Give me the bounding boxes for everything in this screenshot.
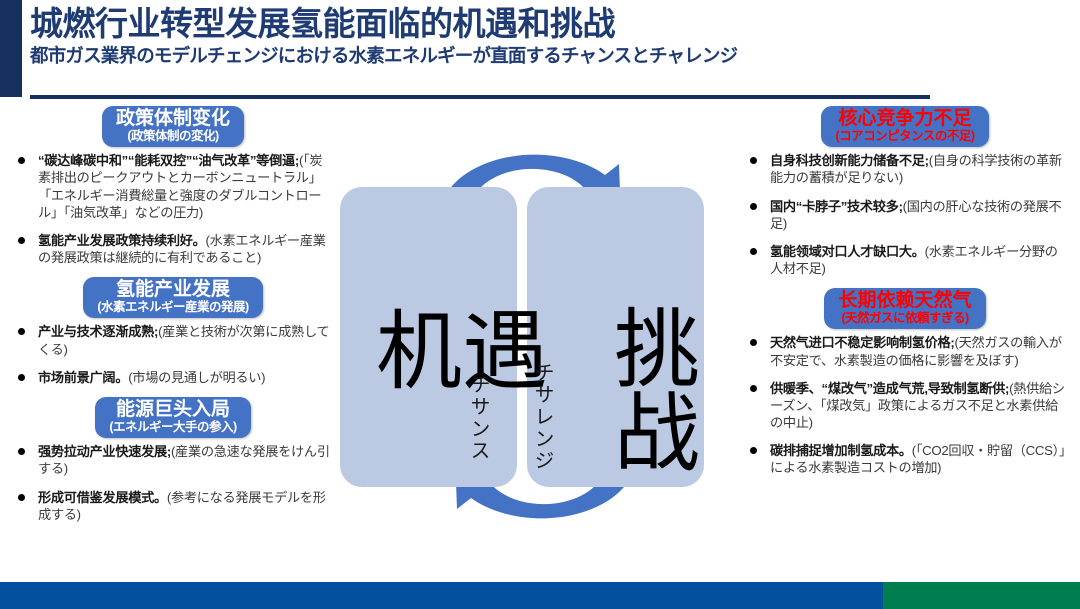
- section-core-competitiveness: 核心竞争力不足 (コアコンピタンスの不足) 自身科技创新能力储备不足;(自身の科…: [740, 106, 1070, 277]
- badge-title-cn: 核心竞争力不足: [835, 108, 974, 129]
- panel-challenge-kana: チサレンジ: [532, 362, 552, 472]
- bullet-list-policy-change: “碳达峰碳中和”“能耗双控”“油气改革”等倒逼;(「炭素排出のピークアウトとカー…: [8, 152, 338, 266]
- list-item: 天然气进口不稳定影响制氢价格;(天然ガスの輸入が不安定で、水素製造の価格に影響を…: [746, 334, 1066, 368]
- list-item: 自身科技创新能力储备不足;(自身の科学技術の革新能力の蓄積が足りない): [746, 152, 1066, 186]
- badge-title-jp: (エネルギー大手の参入): [109, 420, 236, 434]
- list-item: 氢能产业发展政策持续利好。(水素エネルギー産業の発展政策は継続的に有利であること…: [14, 232, 334, 266]
- section-energy-giants: 能源巨头入局 (エネルギー大手の参入) 强势拉动产业快速发展;(産業の急速な発展…: [8, 397, 338, 523]
- section-badge-energy-giants: 能源巨头入局 (エネルギー大手の参入): [95, 397, 250, 438]
- bullet-cn: 自身科技创新能力储备不足;: [770, 153, 929, 168]
- bullet-cn: 市场前景广阔。: [38, 370, 128, 385]
- badge-title-cn: 长期依赖天然气: [838, 290, 971, 311]
- footer-bar-green: [883, 582, 1080, 609]
- panel-opportunity-kana: チサンス: [468, 374, 488, 462]
- bullet-cn: “碳达峰碳中和”“能耗双控”“油气改革”等倒逼;: [38, 153, 299, 168]
- bullet-cn: 供暖季、“煤改气”造成气荒,导致制氢断供;: [770, 381, 1009, 396]
- bullet-cn: 氢能领域对口人才缺口大。: [770, 244, 925, 259]
- header-accent-bar: [0, 0, 22, 97]
- list-item: 供暖季、“煤改气”造成气荒,导致制氢断供;(熱供給シーズン、「煤改気」政策による…: [746, 380, 1066, 431]
- list-item: 强势拉动产业快速发展;(産業の急速な発展をけん引する): [14, 443, 334, 477]
- bullet-cn: 天然气进口不稳定影响制氢价格;: [770, 335, 955, 350]
- header-divider: [30, 95, 930, 99]
- list-item: 市场前景广阔。(市場の見通しが明るい): [14, 369, 334, 386]
- bullet-cn: 碳排捕捉增加制氢成本。: [770, 443, 912, 458]
- list-item: 氢能领域对口人才缺口大。(水素エネルギー分野の人材不足): [746, 243, 1066, 277]
- bullet-list-core-competitiveness: 自身科技创新能力储备不足;(自身の科学技術の革新能力の蓄積が足りない) 国内“卡…: [740, 152, 1070, 277]
- bullet-cn: 氢能产业发展政策持续利好。: [38, 233, 206, 248]
- opportunity-challenge-cycle-diagram: 机遇 チサンス 挑战 チサレンジ: [340, 112, 740, 562]
- page-title: 城燃行业转型发展氢能面临的机遇和挑战: [30, 6, 930, 42]
- list-item: “碳达峰碳中和”“能耗双控”“油气改革”等倒逼;(「炭素排出のピークアウトとカー…: [14, 152, 334, 221]
- bullet-list-energy-giants: 强势拉动产业快速发展;(産業の急速な発展をけん引する) 形成可借鉴发展模式。(参…: [8, 443, 338, 523]
- section-natural-gas-dependence: 长期依赖天然气 (天然ガスに依頼すぎる) 天然气进口不稳定影响制氢价格;(天然ガ…: [740, 288, 1070, 476]
- slide-header: 城燃行业转型发展氢能面临的机遇和挑战 都市ガス業界のモデルチェンジにおける水素エ…: [30, 6, 930, 96]
- bullet-cn: 国内“卡脖子”技术较多;: [770, 199, 903, 214]
- badge-title-jp: (コアコンピタンスの不足): [835, 129, 974, 143]
- badge-title-cn: 能源巨头入局: [109, 399, 236, 420]
- section-hydrogen-industry: 氢能产业发展 (水素エネルギー産業の発展) 产业与技术逐渐成熟;(産業と技術が次…: [8, 277, 338, 386]
- bullet-list-natural-gas-dependence: 天然气进口不稳定影响制氢价格;(天然ガスの輸入が不安定で、水素製造の価格に影響を…: [740, 334, 1070, 476]
- list-item: 碳排捕捉增加制氢成本。(「CO2回収・貯留（CCS）」による水素製造コストの増加…: [746, 442, 1066, 476]
- section-badge-core-competitiveness: 核心竞争力不足 (コアコンピタンスの不足): [821, 106, 988, 147]
- list-item: 产业与技术逐渐成熟;(産業と技術が次第に成熟してくる): [14, 323, 334, 357]
- bullet-cn: 形成可借鉴发展模式。: [38, 490, 167, 505]
- section-badge-natural-gas-dependence: 长期依赖天然气 (天然ガスに依頼すぎる): [824, 288, 985, 329]
- slide-root: 城燃行业转型发展氢能面临的机遇和挑战 都市ガス業界のモデルチェンジにおける水素エ…: [0, 0, 1080, 609]
- bullet-jp: (市場の見通しが明るい): [128, 370, 265, 385]
- badge-title-jp: (水素エネルギー産業の発展): [97, 300, 248, 314]
- panel-challenge-label: 挑战: [574, 308, 740, 477]
- footer-bar-blue: [0, 582, 883, 609]
- badge-title-jp: (政策体制の変化): [116, 129, 230, 143]
- section-badge-policy-change: 政策体制变化 (政策体制の変化): [102, 106, 244, 147]
- section-badge-hydrogen-industry: 氢能产业发展 (水素エネルギー産業の発展): [83, 277, 262, 318]
- list-item: 国内“卡脖子”技术较多;(国内の肝心な技術の発展不足): [746, 198, 1066, 232]
- badge-title-cn: 氢能产业发展: [97, 279, 248, 300]
- left-column: 政策体制变化 (政策体制の変化) “碳达峰碳中和”“能耗双控”“油气改革”等倒逼…: [8, 106, 338, 534]
- section-policy-change: 政策体制变化 (政策体制の変化) “碳达峰碳中和”“能耗双控”“油气改革”等倒逼…: [8, 106, 338, 266]
- page-subtitle: 都市ガス業界のモデルチェンジにおける水素エネルギーが直面するチャンスとチャレンジ: [30, 46, 930, 66]
- bullet-cn: 强势拉动产业快速发展;: [38, 444, 171, 459]
- list-item: 形成可借鉴发展模式。(参考になる発展モデルを形成する): [14, 489, 334, 523]
- right-column: 核心竞争力不足 (コアコンピタンスの不足) 自身科技创新能力储备不足;(自身の科…: [740, 106, 1070, 488]
- panel-opportunity-label: 机遇: [376, 310, 548, 394]
- badge-title-jp: (天然ガスに依頼すぎる): [838, 311, 971, 325]
- badge-title-cn: 政策体制变化: [116, 108, 230, 129]
- bullet-cn: 产业与技术逐渐成熟;: [38, 324, 158, 339]
- bullet-list-hydrogen-industry: 产业与技术逐渐成熟;(産業と技術が次第に成熟してくる) 市场前景广阔。(市場の見…: [8, 323, 338, 385]
